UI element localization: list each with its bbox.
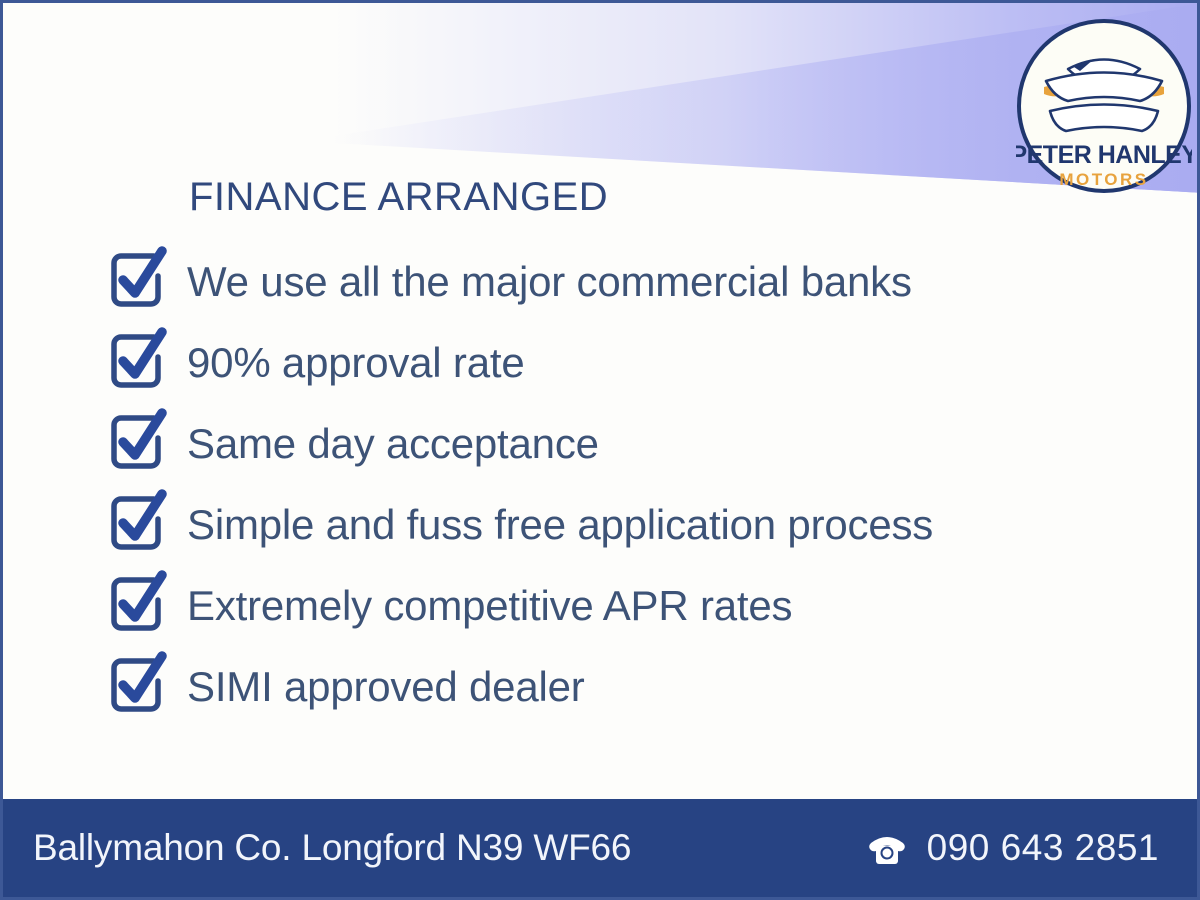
page-title: FINANCE ARRANGED	[189, 175, 608, 220]
finance-arranged-poster: PETER HANLEY MOTORS FINANCE ARRANGED We …	[0, 0, 1200, 900]
list-item: 90% approval rate	[107, 322, 1107, 403]
list-item-label: 90% approval rate	[187, 342, 524, 384]
footer-contact-bar: Ballymahon Co. Longford N39 WF66 090 643…	[3, 799, 1197, 897]
peter-hanley-motors-logo: PETER HANLEY MOTORS	[1016, 11, 1192, 201]
list-item: Extremely competitive APR rates	[107, 565, 1107, 646]
checkbox-checked-icon	[107, 570, 169, 636]
list-item: SIMI approved dealer	[107, 646, 1107, 727]
logo-wordmark-secondary: MOTORS	[1059, 170, 1148, 189]
logo-wordmark-primary: PETER HANLEY	[1016, 141, 1192, 169]
checkbox-checked-icon	[107, 489, 169, 555]
checkbox-checked-icon	[107, 246, 169, 312]
checkbox-checked-icon	[107, 327, 169, 393]
list-item-label: Simple and fuss free application process	[187, 504, 933, 546]
checkbox-checked-icon	[107, 408, 169, 474]
telephone-icon	[865, 829, 909, 867]
footer-address: Ballymahon Co. Longford N39 WF66	[33, 827, 631, 869]
list-item-label: We use all the major commercial banks	[187, 261, 912, 303]
list-item-label: SIMI approved dealer	[187, 666, 585, 708]
list-item: Same day acceptance	[107, 403, 1107, 484]
footer-phone-number: 090 643 2851	[927, 827, 1159, 869]
benefits-checklist: We use all the major commercial banks 90…	[107, 241, 1107, 727]
checkbox-checked-icon	[107, 651, 169, 717]
list-item-label: Extremely competitive APR rates	[187, 585, 792, 627]
list-item-label: Same day acceptance	[187, 423, 599, 465]
list-item: Simple and fuss free application process	[107, 484, 1107, 565]
footer-phone-group[interactable]: 090 643 2851	[865, 827, 1159, 869]
list-item: We use all the major commercial banks	[107, 241, 1107, 322]
